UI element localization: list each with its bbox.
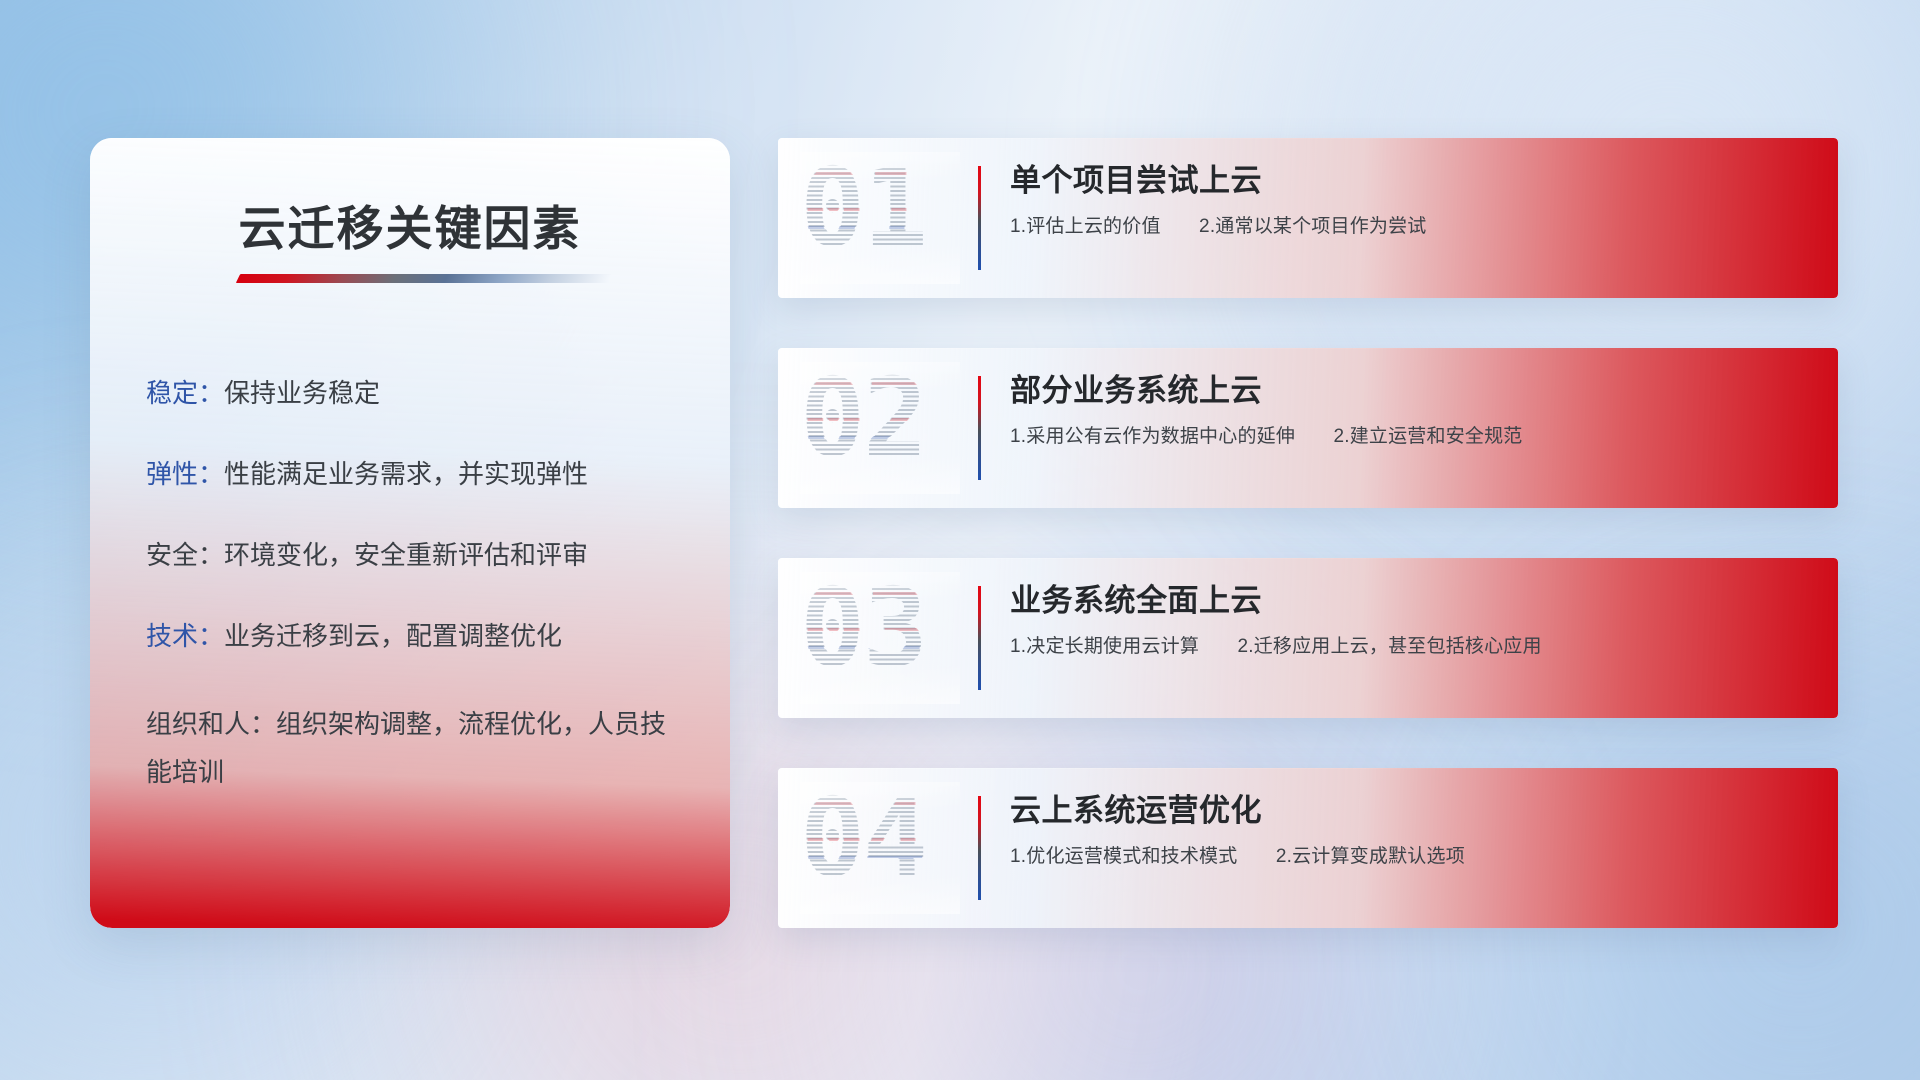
list-item: 弹性：性能满足业务需求，并实现弹性 xyxy=(146,457,690,492)
stage-number: 02 02 02 xyxy=(800,362,960,494)
card-body: 单个项目尝试上云 1.评估上云的价值 2.通常以某个项目作为尝试 xyxy=(1010,162,1808,239)
card-body: 部分业务系统上云 1.采用公有云作为数据中心的延伸 2.建立运营和安全规范 xyxy=(1010,372,1808,449)
title-underline-rule xyxy=(236,274,612,283)
factor-list: 稳定：保持业务稳定 弹性：性能满足业务需求，并实现弹性 安全：环境变化，安全重新… xyxy=(146,376,690,843)
card-description: 1.决定长期使用云计算 2.迁移应用上云，甚至包括核心应用 xyxy=(1010,635,1808,660)
stage-card[interactable]: 01 01 01 单个项目尝试上云 1.评估上云的价值 2.通常以某个项目作为尝… xyxy=(778,138,1838,298)
card-title: 部分业务系统上云 xyxy=(1010,372,1808,411)
card-accent-bar xyxy=(978,796,981,900)
card-description: 1.评估上云的价值 2.通常以某个项目作为尝试 xyxy=(1010,215,1808,240)
page-title: 云迁移关键因素 xyxy=(90,190,730,259)
list-item: 技术：业务迁移到云，配置调整优化 xyxy=(146,619,690,654)
card-accent-bar xyxy=(978,586,981,690)
card-accent-bar xyxy=(978,376,981,480)
card-title: 单个项目尝试上云 xyxy=(1010,162,1808,201)
stage-number: 04 04 04 xyxy=(800,782,960,914)
stage-number: 01 01 01 xyxy=(800,152,960,284)
card-description: 1.采用公有云作为数据中心的延伸 2.建立运营和安全规范 xyxy=(1010,425,1808,450)
list-item: 组织和人：组织架构调整，流程优化，人员技能培训 xyxy=(146,700,690,796)
stage-number: 03 03 03 xyxy=(800,572,960,704)
card-body: 业务系统全面上云 1.决定长期使用云计算 2.迁移应用上云，甚至包括核心应用 xyxy=(1010,582,1808,659)
stage-number-fade xyxy=(800,362,960,494)
factor-key: 弹性： xyxy=(146,459,224,489)
factor-key: 安全： xyxy=(146,540,224,570)
card-title: 业务系统全面上云 xyxy=(1010,582,1808,621)
card-body: 云上系统运营优化 1.优化运营模式和技术模式 2.云计算变成默认选项 xyxy=(1010,792,1808,869)
factor-key: 稳定： xyxy=(146,378,224,408)
stage-card[interactable]: 03 03 03 业务系统全面上云 1.决定长期使用云计算 2.迁移应用上云，甚… xyxy=(778,558,1838,718)
slide-stage: 云迁移关键因素 稳定：保持业务稳定 弹性：性能满足业务需求，并实现弹性 安全：环… xyxy=(0,0,1920,1080)
stage-number-fade xyxy=(800,782,960,914)
stage-number-fade xyxy=(800,572,960,704)
stage-card[interactable]: 02 02 02 部分业务系统上云 1.采用公有云作为数据中心的延伸 2.建立运… xyxy=(778,348,1838,508)
factor-value: 业务迁移到云，配置调整优化 xyxy=(224,621,562,651)
stage-card[interactable]: 04 04 04 云上系统运营优化 1.优化运营模式和技术模式 2.云计算变成默… xyxy=(778,768,1838,928)
list-item: 稳定：保持业务稳定 xyxy=(146,376,690,411)
stage-card-list: 01 01 01 单个项目尝试上云 1.评估上云的价值 2.通常以某个项目作为尝… xyxy=(778,138,1838,978)
factor-key: 组织和人： xyxy=(146,709,276,739)
factor-value: 保持业务稳定 xyxy=(224,378,380,408)
factor-value: 环境变化，安全重新评估和评审 xyxy=(224,540,588,570)
card-description: 1.优化运营模式和技术模式 2.云计算变成默认选项 xyxy=(1010,845,1808,870)
factor-value: 性能满足业务需求，并实现弹性 xyxy=(224,459,588,489)
factor-key: 技术： xyxy=(146,621,224,651)
key-factors-panel: 云迁移关键因素 稳定：保持业务稳定 弹性：性能满足业务需求，并实现弹性 安全：环… xyxy=(90,138,730,928)
list-item: 安全：环境变化，安全重新评估和评审 xyxy=(146,538,690,573)
card-title: 云上系统运营优化 xyxy=(1010,792,1808,831)
stage-number-fade xyxy=(800,152,960,284)
card-accent-bar xyxy=(978,166,981,270)
